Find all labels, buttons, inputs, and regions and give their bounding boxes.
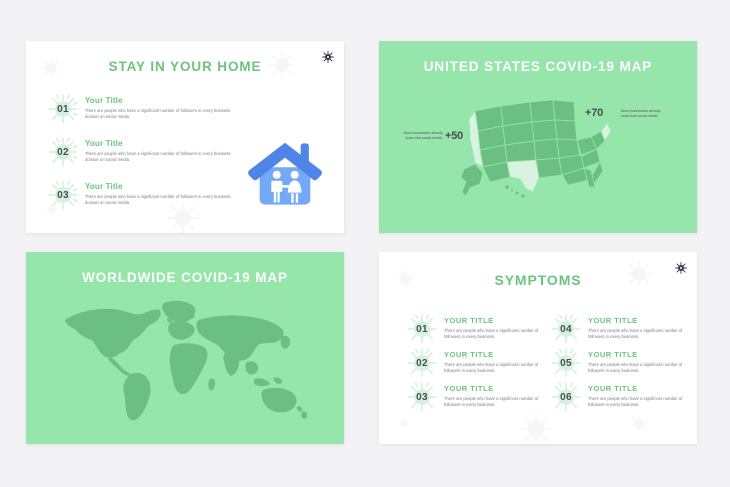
list-item-number: 02 bbox=[48, 137, 78, 167]
virus-decoration-icon bbox=[519, 412, 553, 444]
list-item-body: There are people who have a significant … bbox=[444, 396, 539, 410]
list-item-title: YOUR TITLE bbox=[588, 316, 683, 325]
list-item-number: 05 bbox=[551, 348, 581, 378]
page-title: STAY IN YOUR HOME bbox=[26, 59, 344, 74]
virus-number-badge: 03 bbox=[407, 382, 437, 412]
map-callout-value-right: +70 bbox=[585, 107, 603, 119]
slide-worldwide-map[interactable]: WORLDWIDE COVID-19 MAP bbox=[26, 252, 344, 444]
list-item-title: Your Title bbox=[85, 182, 237, 191]
list-item-title: YOUR TITLE bbox=[588, 384, 683, 393]
list-item-title: Your Title bbox=[85, 96, 237, 105]
virus-number-badge: 03 bbox=[48, 180, 78, 210]
virus-number-badge: 02 bbox=[407, 348, 437, 378]
slide-stay-in-your-home[interactable]: STAY IN YOUR HOME 01 Your Title bbox=[26, 41, 344, 233]
list-item-number: 01 bbox=[407, 314, 437, 344]
list-item[interactable]: 03 Your Title There are people who have … bbox=[48, 180, 237, 210]
list-item-body: There are people who have a significant … bbox=[588, 396, 683, 410]
world-map-graphic[interactable] bbox=[56, 294, 314, 431]
list-item[interactable]: 06 YOUR TITLE There are people who have … bbox=[551, 382, 683, 412]
virus-number-badge: 06 bbox=[551, 382, 581, 412]
list-item[interactable]: 03 YOUR TITLE There are people who have … bbox=[407, 382, 539, 412]
list-item-number: 03 bbox=[48, 180, 78, 210]
list-item-body: There are people who have a significant … bbox=[85, 194, 237, 208]
list-item-body: There are people who have a significant … bbox=[444, 362, 539, 376]
slide-deck-preview: STAY IN YOUR HOME 01 Your Title bbox=[0, 0, 730, 487]
list-item-body: There are people who have a significant … bbox=[588, 328, 683, 342]
list-item-title: YOUR TITLE bbox=[444, 384, 539, 393]
map-callout-text-left: Most businesses already know that social… bbox=[399, 131, 443, 142]
page-title: WORLDWIDE COVID-19 MAP bbox=[26, 270, 344, 285]
virus-decoration-icon bbox=[397, 416, 411, 430]
list-item[interactable]: 04 YOUR TITLE There are people who have … bbox=[551, 314, 683, 344]
list-item[interactable]: 05 YOUR TITLE There are people who have … bbox=[551, 348, 683, 378]
virus-number-badge: 01 bbox=[407, 314, 437, 344]
list-item[interactable]: 02 YOUR TITLE There are people who have … bbox=[407, 348, 539, 378]
list-item-number: 01 bbox=[48, 94, 78, 124]
virus-number-badge: 01 bbox=[48, 94, 78, 124]
virus-decoration-icon bbox=[629, 414, 649, 434]
page-title: SYMPTOMS bbox=[379, 272, 697, 288]
virus-number-badge: 04 bbox=[551, 314, 581, 344]
slide-symptoms[interactable]: SYMPTOMS 01 YOUR TITLE There are peop bbox=[379, 252, 697, 444]
list-item-title: YOUR TITLE bbox=[444, 316, 539, 325]
list-item-number: 02 bbox=[407, 348, 437, 378]
virus-number-badge: 05 bbox=[551, 348, 581, 378]
list-item[interactable]: 01 YOUR TITLE There are people who have … bbox=[407, 314, 539, 344]
list-item-title: Your Title bbox=[85, 139, 237, 148]
list-item[interactable]: 01 Your Title There are people who have … bbox=[48, 94, 237, 124]
list-item[interactable]: 02 Your Title There are people who have … bbox=[48, 137, 237, 167]
house-family-icon bbox=[244, 133, 326, 220]
list-item-body: There are people who have a significant … bbox=[85, 108, 237, 122]
virus-number-badge: 02 bbox=[48, 137, 78, 167]
list-item-title: YOUR TITLE bbox=[444, 350, 539, 359]
list-item-number: 06 bbox=[551, 382, 581, 412]
list-item-body: There are people who have a significant … bbox=[444, 328, 539, 342]
list-item-body: There are people who have a significant … bbox=[588, 362, 683, 376]
page-title: UNITED STATES COVID-19 MAP bbox=[379, 59, 697, 74]
map-callout-text-right: Most businesses already know that social… bbox=[621, 109, 665, 120]
slide-united-states-map[interactable]: UNITED STATES COVID-19 MAP bbox=[379, 41, 697, 233]
list-item-number: 04 bbox=[551, 314, 581, 344]
list-item-title: YOUR TITLE bbox=[588, 350, 683, 359]
map-callout-value-left: +50 bbox=[445, 130, 463, 142]
list-item-number: 03 bbox=[407, 382, 437, 412]
list-item-body: There are people who have a significant … bbox=[85, 151, 237, 165]
